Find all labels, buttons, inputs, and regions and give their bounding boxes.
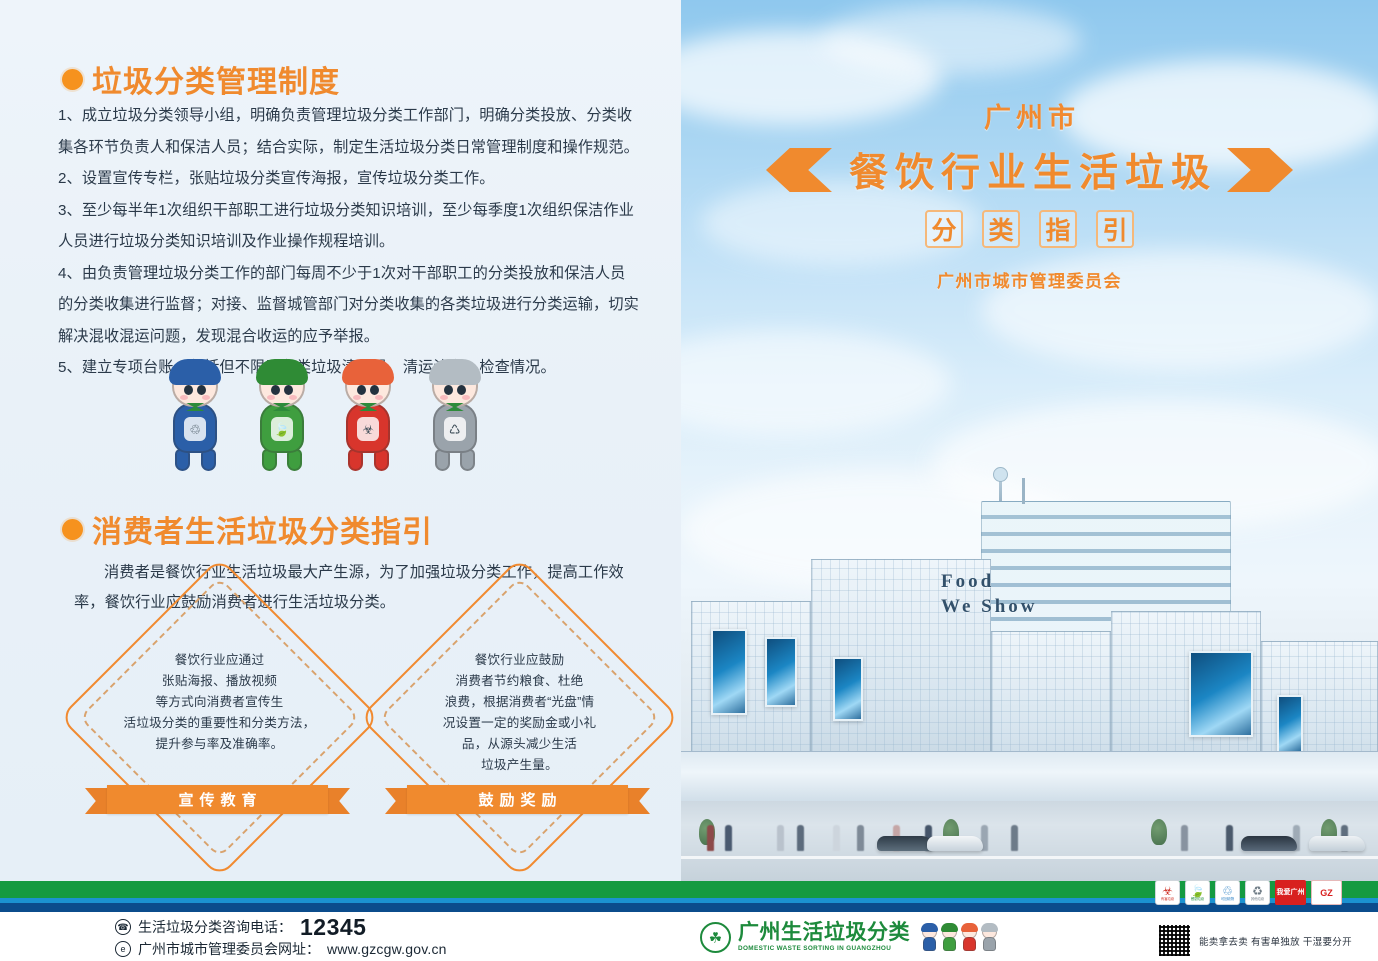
mascot-cheek — [462, 395, 470, 400]
brand-name-en: DOMESTIC WASTE SORTING IN GUANGZHOU — [738, 944, 910, 953]
pedestrian — [833, 825, 840, 851]
mascot-eye — [357, 385, 366, 395]
other-mascot-gray: ♺ — [425, 359, 486, 477]
cover-subtitle-row: 分 类 指 引 — [681, 210, 1378, 248]
globe-icon: e — [115, 941, 131, 957]
card-line: 垃圾产生量。 — [388, 755, 651, 776]
cover-main-title: 餐饮行业生活垃圾 — [842, 142, 1217, 198]
sign-line-1: Food — [941, 571, 994, 592]
section-heading-management: 垃圾分类管理制度 — [62, 57, 340, 101]
poster-page: 垃圾分类管理制度 1、成立垃圾分类领导小组，明确负责管理垃圾分类工作部门，明确分… — [0, 0, 1378, 961]
filled-circle-icon — [62, 69, 83, 90]
pedestrian — [1011, 825, 1018, 851]
mascot-hair — [429, 359, 481, 385]
mascot-cheek — [180, 395, 188, 400]
mascot-body — [943, 937, 956, 951]
ribbon-encourage-reward: 鼓励奖励 — [385, 785, 650, 814]
recyclable-mascot-blue-mini — [921, 925, 938, 951]
pedestrian — [1181, 825, 1188, 851]
billboard-screen — [765, 637, 797, 707]
mascot-hair — [342, 359, 394, 385]
filled-circle-icon — [62, 519, 83, 540]
street-tree — [1151, 819, 1167, 845]
pedestrian — [797, 825, 804, 851]
rule-line: 解决混收混运问题，发现混合收运的应予举报。 — [58, 321, 658, 353]
gz-heart-logo: GZ — [1311, 880, 1342, 905]
subtitle-char-box: 分 — [925, 210, 963, 248]
rule-line: 4、由负责管理垃圾分类工作的部门每周不少于1次对干部职工的分类投放和保洁人员 — [58, 258, 658, 290]
ribbon-publicity-education: 宣传教育 — [85, 785, 350, 814]
rule-line: 集各环节负责人和保洁人员；结合实际，制定生活垃圾分类日常管理制度和操作规范。 — [58, 132, 658, 164]
brand-name-cn: 广州生活垃圾分类 — [738, 922, 910, 944]
billboard-screen — [1189, 651, 1253, 737]
card-line: 餐饮行业应鼓励 — [388, 650, 651, 671]
mascot-eye — [271, 385, 280, 395]
chevron-right-icon — [1227, 148, 1293, 192]
mascot-cheek — [267, 395, 275, 400]
mascot-eye — [370, 385, 379, 395]
cityscape-illustration: Food We Show — [681, 481, 1378, 881]
footer-bar: ☎ 生活垃圾分类咨询电话： 12345 e 广州市城市管理委员会网址： www.… — [0, 912, 1378, 961]
kitchen-waste-icon: 🍃 餐厨垃圾 — [1185, 880, 1210, 905]
card-line: 消费者节约粮食、杜绝 — [388, 671, 651, 692]
icon-caption: 有害垃圾 — [1161, 897, 1174, 901]
pedestrian — [857, 825, 864, 851]
kitchen-mascot-green: 🍃 — [252, 359, 313, 477]
footer-qr-block: 能卖拿去卖 有害单独放 干湿要分开 — [1158, 924, 1352, 957]
website-label: 广州市城市管理委员会网址： — [138, 938, 320, 960]
card-line: 等方式向消费者宣传生 — [88, 692, 351, 713]
subtitle-char-box: 指 — [1039, 210, 1077, 248]
mascot-cheek — [353, 395, 361, 400]
shopfront-row — [931, 751, 1131, 803]
icon-caption: 可回收物 — [1221, 897, 1234, 901]
mascot-cheek — [375, 395, 383, 400]
phone-label: 生活垃圾分类咨询电话： — [138, 916, 292, 938]
cloud-shape — [681, 330, 951, 435]
card-line: 况设置一定的奖励金或小礼 — [388, 713, 651, 734]
icon-caption: 其他垃圾 — [1251, 897, 1264, 901]
mascot-eye — [197, 385, 206, 395]
other-waste-icon: ♻ 其他垃圾 — [1245, 880, 1270, 905]
card-body-text: 餐饮行业应鼓励 消费者节约粮食、杜绝 浪费，根据消费者“光盘”情 况设置一定的奖… — [388, 650, 651, 776]
icon-caption: 餐厨垃圾 — [1191, 897, 1204, 901]
footer-slogan: 能卖拿去卖 有害单独放 干湿要分开 — [1199, 934, 1352, 948]
mascot-badge: ♲ — [184, 417, 206, 441]
phone-number: 12345 — [300, 916, 366, 938]
recyclable-waste-icon: ♲ 可回收物 — [1215, 880, 1240, 905]
ribbon-label: 宣传教育 — [107, 785, 328, 814]
kitchen-mascot-green-mini — [941, 925, 958, 951]
pedestrian — [707, 825, 714, 851]
recycle-glyph: ♲ — [1222, 885, 1233, 897]
recyclable-mascot-blue: ♲ — [165, 359, 226, 477]
hazardous-mascot-red: ☣ — [338, 359, 399, 477]
footer-brand-block: ☘ 广州生活垃圾分类 DOMESTIC WASTE SORTING IN GUA… — [700, 922, 998, 953]
rule-line: 2、设置宣传专栏，张贴垃圾分类宣传海报，宣传垃圾分类工作。 — [58, 163, 658, 195]
mascot-hair — [961, 923, 978, 932]
card-line: 浪费，根据消费者“光盘”情 — [388, 692, 651, 713]
hazardous-mascot-red-mini — [961, 925, 978, 951]
waste-category-icon-strip: ☣ 有害垃圾 🍃 餐厨垃圾 ♲ 可回收物 ♻ 其他垃圾 我爱广州 GZ — [1155, 880, 1342, 905]
telephone-icon: ☎ — [115, 919, 131, 935]
card-body-text: 餐饮行业应通过 张贴海报、播放视频 等方式向消费者宣传生 活垃圾分类的重要性和分… — [88, 650, 351, 755]
management-rules-list: 1、成立垃圾分类领导小组，明确负责管理垃圾分类工作部门，明确分类投放、分类收 集… — [58, 100, 658, 384]
card-line: 提升参与率及准确率。 — [88, 734, 351, 755]
mascot-body — [923, 937, 936, 951]
rule-line: 人员进行垃圾分类知识培训及作业操作规程培训。 — [58, 226, 658, 258]
chevron-left-icon — [766, 148, 832, 192]
ribbon-label: 鼓励奖励 — [407, 785, 628, 814]
mascot-badge: ☣ — [357, 417, 379, 441]
mascot-cheek — [440, 395, 448, 400]
footer-contact-block: ☎ 生活垃圾分类咨询电话： 12345 e 广州市城市管理委员会网址： www.… — [115, 916, 447, 960]
love-guangzhou-logo: 我爱广州 — [1275, 880, 1306, 905]
leaf-seal-icon: ☘ — [700, 922, 731, 953]
footer-website-row: e 广州市城市管理委员会网址： www.gzcgw.gov.cn — [115, 938, 447, 960]
section-heading-consumer: 消费者生活垃圾分类指引 — [62, 507, 433, 551]
section2-title: 消费者生活垃圾分类指引 — [92, 507, 433, 551]
mascot-badge: 🍃 — [271, 417, 293, 441]
rule-line: 1、成立垃圾分类领导小组，明确负责管理垃圾分类工作部门，明确分类投放、分类收 — [58, 100, 658, 132]
cover-issuing-organization: 广州市城市管理委员会 — [681, 267, 1378, 292]
other-glyph: ♻ — [1252, 885, 1263, 897]
card-line: 张贴海报、播放视频 — [88, 671, 351, 692]
subtitle-char-box: 引 — [1096, 210, 1134, 248]
rule-line: 3、至少每半年1次组织干部职工进行垃圾分类知识培训，至少每季度1次组织保洁作业 — [58, 195, 658, 227]
hazardous-waste-icon: ☣ 有害垃圾 — [1155, 880, 1180, 905]
cover-main-title-row: 餐饮行业生活垃圾 — [681, 142, 1378, 198]
shopfront-row — [681, 751, 931, 803]
pedestrian — [725, 825, 732, 851]
mascot-body — [983, 937, 996, 951]
cover-city-name: 广州市 — [681, 96, 1378, 135]
footer-mascot-row — [921, 925, 998, 951]
cover-title-block: 广州市 餐饮行业生活垃圾 分 类 指 引 广州市城市管理委员会 — [681, 96, 1378, 292]
mascot-cheek — [202, 395, 210, 400]
sign-line-2: We Show — [941, 596, 1038, 617]
billboard-screen — [833, 657, 863, 721]
section1-title: 垃圾分类管理制度 — [92, 57, 340, 101]
left-panel: 垃圾分类管理制度 1、成立垃圾分类领导小组，明确负责管理垃圾分类工作部门，明确分… — [0, 0, 681, 881]
mascot-hair — [981, 923, 998, 932]
pedestrian — [1226, 825, 1233, 851]
card-line: 品，从源头减少生活 — [388, 734, 651, 755]
pedestrian — [777, 825, 784, 851]
mascot-eye — [457, 385, 466, 395]
card-line: 餐饮行业应通过 — [88, 650, 351, 671]
hazard-glyph: ☣ — [1162, 885, 1173, 897]
mascot-hair — [921, 923, 938, 932]
mascot-cheek — [289, 395, 297, 400]
mascot-group: ♲ 🍃 — [165, 352, 485, 477]
leaf-glyph: 🍃 — [1190, 885, 1205, 897]
mascot-hair — [941, 923, 958, 932]
cloud-shape — [821, 5, 1081, 75]
rule-line: 的分类收集进行监督；对接、监督城管部门对分类收集的各类垃圾进行分类运输，切实 — [58, 289, 658, 321]
car — [1309, 836, 1365, 851]
car — [877, 836, 933, 851]
mascot-badge: ♺ — [444, 417, 466, 441]
brand-wordmark: 广州生活垃圾分类 DOMESTIC WASTE SORTING IN GUANG… — [738, 922, 910, 953]
mascot-body — [963, 937, 976, 951]
car — [927, 836, 983, 851]
antenna-sphere — [993, 467, 1008, 482]
mascot-eye — [444, 385, 453, 395]
mascot-hair — [256, 359, 308, 385]
subtitle-char-box: 类 — [982, 210, 1020, 248]
footer-phone-row: ☎ 生活垃圾分类咨询电话： 12345 — [115, 916, 447, 938]
mascot-eye — [284, 385, 293, 395]
road-marking — [681, 856, 1378, 859]
website-url[interactable]: www.gzcgw.gov.cn — [327, 938, 447, 960]
mascot-hair — [169, 359, 221, 385]
billboard-screen — [711, 629, 747, 715]
car — [1241, 836, 1297, 851]
other-mascot-gray-mini — [981, 925, 998, 951]
right-panel-cover: 广州市 餐饮行业生活垃圾 分 类 指 引 广州市城市管理委员会 — [681, 0, 1378, 881]
qr-code-icon[interactable] — [1158, 924, 1191, 957]
food-we-show-sign: Food We Show — [941, 569, 1038, 619]
mascot-eye — [184, 385, 193, 395]
billboard-screen — [1277, 695, 1303, 753]
card-line: 活垃圾分类的重要性和分类方法， — [88, 713, 351, 734]
shopfront-row — [1131, 751, 1378, 803]
